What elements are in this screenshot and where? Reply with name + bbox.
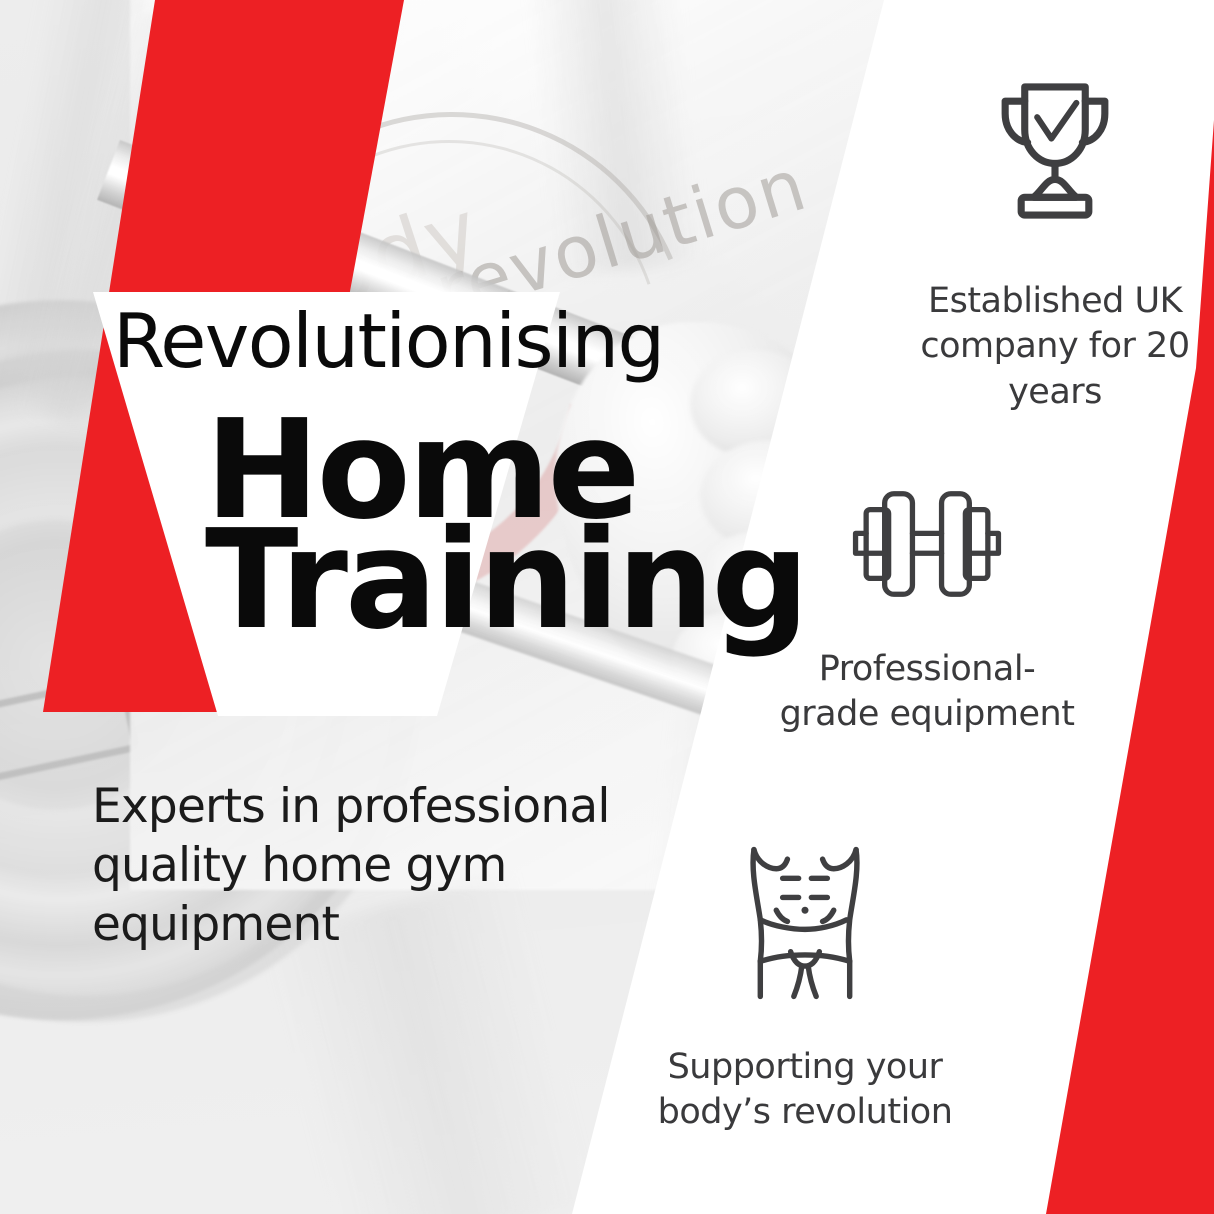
promo-poster: body revolution Revolutionising Home Tra… [0,0,1214,1214]
feature-label: Professional-grade equipment [772,647,1082,738]
feature-established-uk: Established UK company for 20 years [910,62,1200,415]
feature-professional-grade: Professional-grade equipment [772,480,1082,738]
torso-abs-icon [650,840,960,1019]
feature-label: Established UK company for 20 years [910,279,1200,416]
feature-column: Established UK company for 20 years Prof… [0,0,1214,1214]
feature-body-revolution: Supporting your body’s revolution [650,840,960,1136]
trophy-check-icon [910,62,1200,253]
feature-label: Supporting your body’s revolution [650,1045,960,1136]
dumbbell-icon [772,480,1082,621]
